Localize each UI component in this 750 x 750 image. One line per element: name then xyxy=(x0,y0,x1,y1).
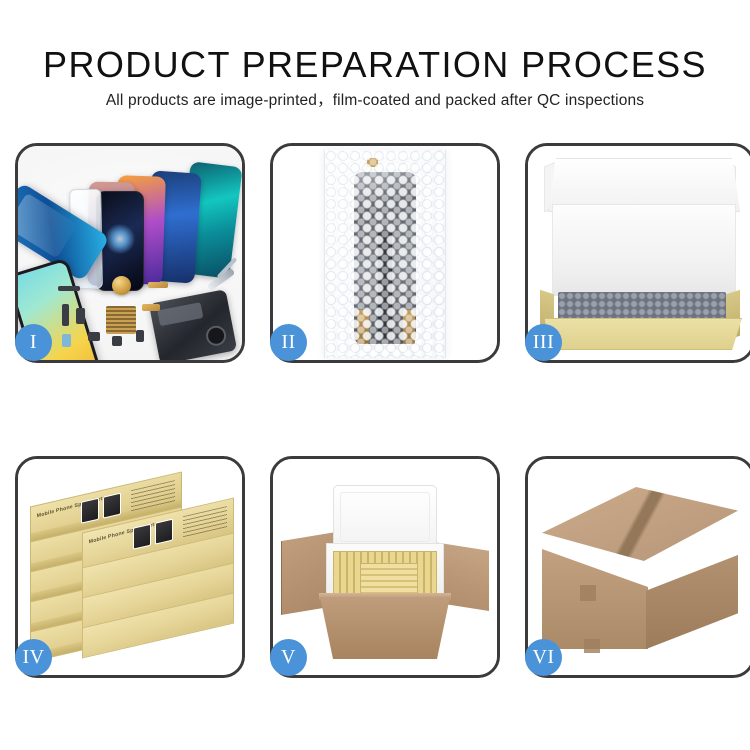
box-stack: Mobile Phone Spare Parts Mobile Phone Sp… xyxy=(26,477,238,662)
carton-tape-lower xyxy=(584,639,600,653)
process-step-1: I xyxy=(15,143,245,363)
carton-tape-upper xyxy=(580,585,596,601)
box-window-a xyxy=(133,524,151,550)
step-3-image xyxy=(528,146,750,360)
small-part-d xyxy=(76,308,85,324)
small-part-a xyxy=(58,286,80,291)
process-step-3: III xyxy=(525,143,750,363)
small-part-i xyxy=(62,334,71,347)
gold-tab-top xyxy=(367,158,378,167)
small-part-b xyxy=(148,282,168,288)
foam-sheet xyxy=(552,204,736,296)
process-step-grid: I II xyxy=(15,143,735,678)
carton-right-face xyxy=(646,555,738,649)
step-1-image xyxy=(18,146,242,360)
process-step-6: VI xyxy=(525,456,750,678)
small-part-e xyxy=(142,304,160,311)
process-step-4: Mobile Phone Spare Parts Mobile Phone Sp… xyxy=(15,456,245,678)
step-2-image xyxy=(273,146,497,360)
kraft-boxes-vertical xyxy=(360,563,418,595)
product-preparation-infographic: PRODUCT PREPARATION PROCESS All products… xyxy=(0,0,750,750)
step-badge-2: II xyxy=(270,324,307,361)
chip-grid-part xyxy=(106,306,136,334)
box-front-panel xyxy=(544,318,742,350)
small-part-f xyxy=(88,332,100,341)
page-title: PRODUCT PREPARATION PROCESS xyxy=(0,44,750,86)
box-spec-lines xyxy=(183,506,227,538)
carton-body xyxy=(320,597,450,659)
step-badge-6: VI xyxy=(525,639,562,676)
process-step-2: II xyxy=(270,143,500,363)
box-window-b xyxy=(103,493,121,519)
step-badge-5: V xyxy=(270,639,307,676)
bubble-wrapped-contents xyxy=(558,292,726,322)
phone-chassis xyxy=(149,289,237,360)
small-part-c xyxy=(62,304,69,326)
step-4-image: Mobile Phone Spare Parts Mobile Phone Sp… xyxy=(18,459,242,675)
bubble-wrap-bag xyxy=(324,150,446,358)
speaker-part xyxy=(112,276,131,295)
carton-top-seam xyxy=(542,487,738,561)
step-badge-1: I xyxy=(15,324,52,361)
foam-cooler-lid xyxy=(333,485,437,549)
box-window-a xyxy=(81,498,99,524)
page-subtitle: All products are image-printed，film-coat… xyxy=(0,88,750,110)
flex-cable xyxy=(378,230,392,340)
step-badge-4: IV xyxy=(15,639,52,676)
small-part-g xyxy=(112,336,122,346)
small-part-h xyxy=(136,330,144,342)
gold-connector-right xyxy=(403,310,415,344)
gold-connector-left xyxy=(357,310,369,344)
step-5-image xyxy=(273,459,497,675)
step-badge-3: III xyxy=(525,324,562,361)
box-window-b xyxy=(155,519,173,545)
step-6-image xyxy=(528,459,750,675)
process-step-5: V xyxy=(270,456,500,678)
